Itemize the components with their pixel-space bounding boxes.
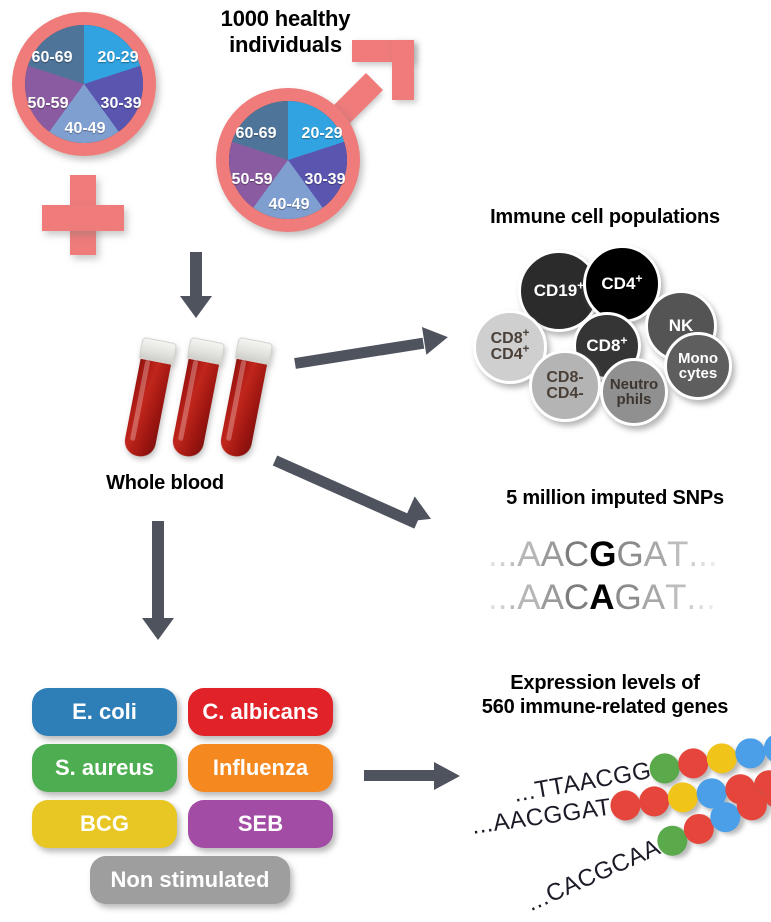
gene-dot <box>608 789 642 823</box>
whole-blood-label: Whole blood <box>60 472 270 496</box>
figure-root: 1000 healthy individuals 20-29 30-39 40-… <box>0 0 771 922</box>
snp-sequence-row: ...AACAGAT... <box>488 578 716 618</box>
gene-dot <box>733 736 768 771</box>
snp-sequence-row: ...AACGGAT... <box>488 535 718 575</box>
pie-label-40-49: 40-49 <box>269 196 310 214</box>
stimulus-box-bcg[interactable]: BCG <box>32 800 177 848</box>
arrow-shaft <box>273 455 419 528</box>
arrow-head <box>180 296 212 318</box>
stimulus-box-s-aureus[interactable]: S. aureus <box>32 744 177 792</box>
gene-sequence-text: ...CACGCAA <box>522 834 665 918</box>
pie-label-60-69: 60-69 <box>236 125 277 143</box>
stimulus-box-non-stimulated[interactable]: Non stimulated <box>90 856 290 904</box>
gene-dot <box>637 785 671 819</box>
male-arrow-head-vertical <box>392 40 414 100</box>
cell-circle-monocytes: Monocytes <box>664 332 732 400</box>
cell-circle-neutrophils: Neutrophils <box>600 358 668 426</box>
cell-label: CD8+ <box>586 337 627 354</box>
arrow-head <box>403 496 436 531</box>
pie-label-20-29: 20-29 <box>302 125 343 143</box>
cell-circle-cd8neg-cd4neg: CD8-CD4- <box>529 350 601 422</box>
pie-label-30-39: 30-39 <box>101 95 142 113</box>
female-stem-cross <box>42 205 124 231</box>
cell-label: CD8-CD4- <box>546 370 583 403</box>
arrow-shaft <box>294 338 424 369</box>
genes-section-title: Expression levels of 560 immune-related … <box>440 672 770 719</box>
pie-label-50-59: 50-59 <box>28 95 69 113</box>
pie-label-50-59: 50-59 <box>232 171 273 189</box>
stimulus-box-c-albicans[interactable]: C. albicans <box>188 688 333 736</box>
gene-dot <box>705 741 740 776</box>
arrow-head <box>422 323 450 354</box>
pie-label-20-29: 20-29 <box>98 49 139 67</box>
cell-label: Monocytes <box>678 351 718 382</box>
gene-dot <box>676 746 711 781</box>
cell-label: CD8+CD4+ <box>491 331 530 364</box>
stimulus-box-influenza[interactable]: Influenza <box>188 744 333 792</box>
stimulus-box-seb[interactable]: SEB <box>188 800 333 848</box>
cell-label: Neutrophils <box>610 377 658 408</box>
snps-section-title: 5 million imputed SNPs <box>455 487 771 511</box>
stimulus-box-e-coli[interactable]: E. coli <box>32 688 177 736</box>
arrow-shaft <box>152 521 164 621</box>
arrow-head <box>434 762 460 790</box>
pie-label-60-69: 60-69 <box>32 49 73 67</box>
pie-label-40-49: 40-49 <box>65 120 106 138</box>
arrow-shaft <box>190 252 202 300</box>
blood-tube <box>218 337 271 459</box>
gene-dot <box>666 780 700 814</box>
cell-label: CD4+ <box>601 275 642 292</box>
pie-label-30-39: 30-39 <box>305 171 346 189</box>
cell-label: CD19+ <box>534 282 585 299</box>
arrow-head <box>142 618 174 640</box>
arrow-shaft <box>364 770 436 781</box>
blood-tube <box>122 337 175 459</box>
blood-tube <box>170 337 223 459</box>
immune-section-title: Immune cell populations <box>440 206 770 230</box>
